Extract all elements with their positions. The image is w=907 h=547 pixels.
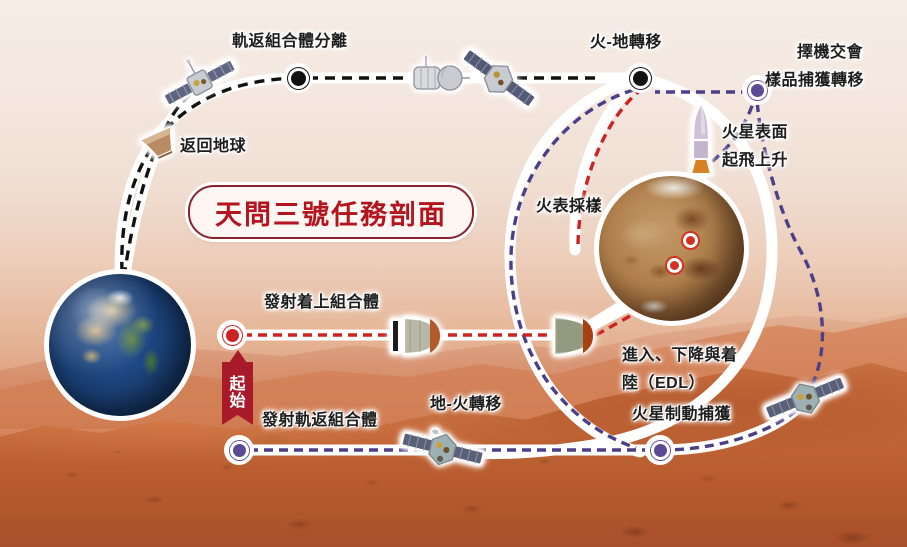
start-arrow-icon bbox=[229, 350, 247, 363]
label-mars-earth-transfer: 火-地轉移 bbox=[590, 32, 662, 54]
orbiter-satellite-icon bbox=[762, 358, 850, 442]
infographic-canvas: 天問三號任務剖面 起 始 軌返組合體分離 返回地球 火-地轉移 擇機交會 樣品捕… bbox=[0, 0, 907, 547]
label-earth-mars-transfer: 地-火轉移 bbox=[430, 394, 502, 416]
page-title-text: 天問三號任務剖面 bbox=[215, 193, 447, 232]
label-launch-lander-ascender: 發射着上組合體 bbox=[264, 292, 380, 314]
mars-earth-transfer-node[interactable] bbox=[629, 67, 651, 89]
ascent-rocket-icon bbox=[684, 100, 718, 180]
label-edl-line1: 進入、下降與着 bbox=[622, 345, 738, 367]
orbiter-satellite-icon bbox=[398, 410, 486, 492]
launch-lander-node[interactable] bbox=[221, 324, 243, 346]
label-return-to-earth: 返回地球 bbox=[180, 136, 246, 158]
orbiter-satellite-icon bbox=[452, 38, 542, 124]
launch-orbiter-node[interactable] bbox=[228, 439, 250, 461]
orbiter-satellite-icon bbox=[160, 45, 244, 129]
page-title: 天問三號任務剖面 bbox=[188, 185, 474, 239]
takeoff-site-marker bbox=[683, 233, 698, 248]
label-edl-line2: 陸（EDL） bbox=[622, 373, 705, 395]
label-rendezvous-line2: 樣品捕獲轉移 bbox=[765, 70, 864, 92]
label-launch-orbiter-returner: 發射軌返組合體 bbox=[262, 410, 378, 432]
landing-site-marker bbox=[667, 258, 682, 273]
mars-capture-node[interactable] bbox=[649, 439, 671, 461]
entry-aeroshell-icon bbox=[547, 308, 605, 364]
separation-node[interactable] bbox=[287, 67, 309, 89]
mars-globe-icon bbox=[594, 171, 749, 326]
label-mars-surface-line2: 起飛上升 bbox=[722, 150, 788, 172]
label-orbiter-return-separation: 軌返組合體分離 bbox=[232, 31, 348, 53]
return-capsule-icon bbox=[134, 119, 186, 167]
label-mars-surface-line1: 火星表面 bbox=[722, 122, 788, 144]
label-mars-capture: 火星制動捕獲 bbox=[632, 404, 731, 426]
label-mars-sampling: 火表採樣 bbox=[536, 196, 602, 218]
label-rendezvous-line1: 擇機交會 bbox=[797, 42, 863, 64]
start-banner-line1: 起 bbox=[229, 377, 245, 394]
lander-aeroshell-icon bbox=[386, 308, 448, 364]
earth-globe-icon bbox=[44, 269, 196, 421]
start-banner-line2: 始 bbox=[229, 394, 245, 411]
